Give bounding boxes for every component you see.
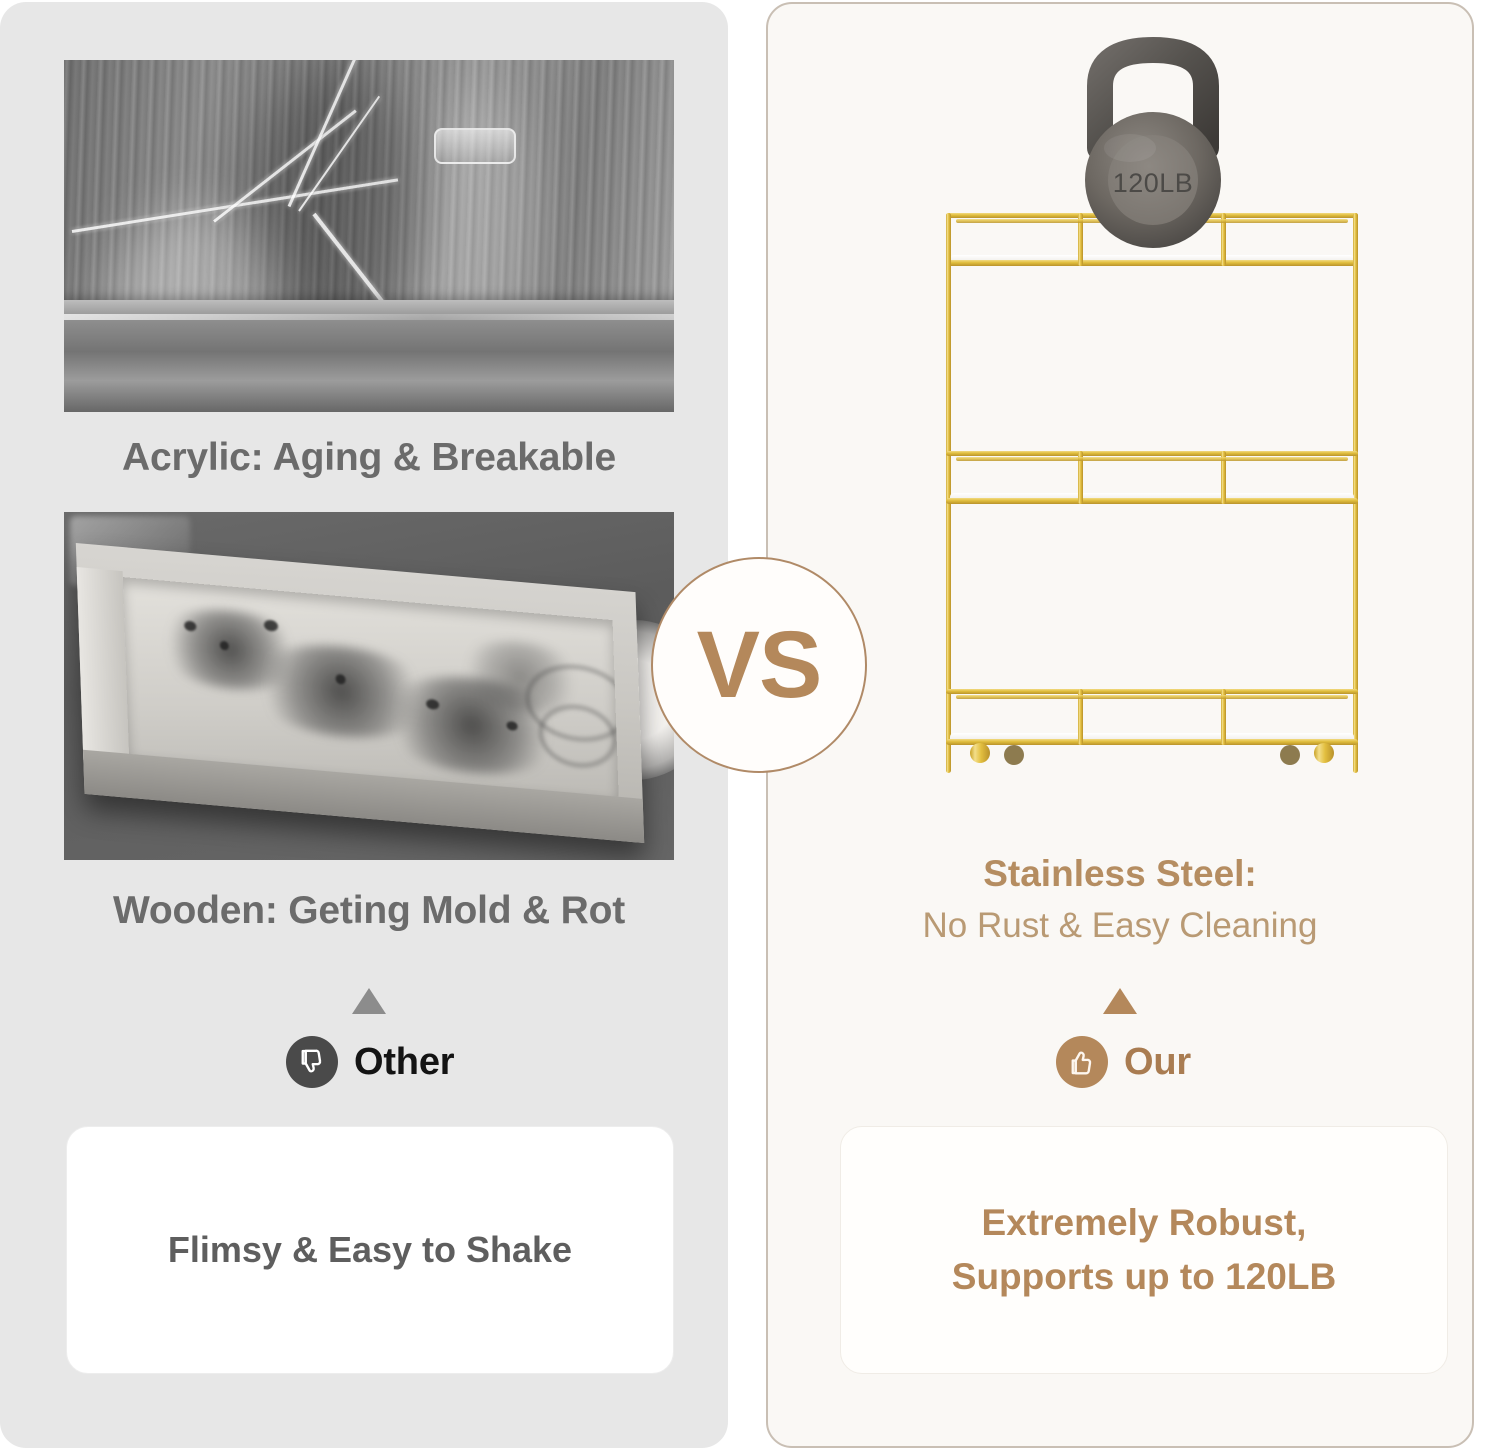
- verdict-label-our: Our: [1124, 1041, 1191, 1084]
- shelf-foot-1: [970, 743, 990, 763]
- thumbs-up-icon: [1056, 1036, 1108, 1088]
- summary-card-our-text: Extremely Robust, Supports up to 120LB: [952, 1196, 1336, 1303]
- vs-label: VS: [697, 618, 822, 713]
- summary-card-other: Flimsy & Easy to Shake: [66, 1126, 674, 1374]
- wooden-tray-left-wall: [77, 567, 130, 764]
- acrylic-shelf-edge: [64, 300, 674, 412]
- pointer-triangle-other: [352, 988, 386, 1014]
- mold-speck-2: [220, 641, 229, 651]
- wooden-tray: [76, 543, 644, 843]
- summary-card-our-line1: Extremely Robust,: [982, 1202, 1307, 1243]
- wooden-photo-caption: Wooden: Geting Mold & Rot: [64, 889, 674, 933]
- shelf-tier-2: [946, 451, 1358, 504]
- summary-card-our-line2-prefix: Supports up to: [952, 1256, 1225, 1297]
- vs-badge: VS: [651, 557, 867, 773]
- acrylic-cracked-photo: [64, 60, 674, 412]
- acrylic-photo-caption: Acrylic: Aging & Breakable: [64, 436, 674, 480]
- verdict-label-other: Other: [354, 1041, 454, 1084]
- product-material-heading: Stainless Steel:: [766, 853, 1474, 895]
- summary-card-our: Extremely Robust, Supports up to 120LB: [840, 1126, 1448, 1374]
- pointer-triangle-our: [1103, 988, 1137, 1014]
- product-material-subheading: No Rust & Easy Cleaning: [766, 906, 1474, 946]
- summary-card-our-line2-value: 120LB: [1225, 1256, 1336, 1297]
- shelf-foot-4: [1314, 743, 1334, 763]
- shelf-foot-2: [1004, 745, 1024, 765]
- verdict-row-our: Our: [1056, 1036, 1191, 1088]
- summary-card-other-text: Flimsy & Easy to Shake: [168, 1229, 572, 1271]
- kettlebell-icon: 120LB: [1058, 28, 1248, 248]
- wooden-moldy-tray-photo: [64, 512, 674, 860]
- gold-wire-spice-rack: [932, 205, 1372, 775]
- shelf-tier-3: [946, 689, 1358, 745]
- thumbs-down-icon: [286, 1036, 338, 1088]
- kettlebell-weight-label: 120LB: [1058, 168, 1248, 199]
- shelf-foot-3: [1280, 745, 1300, 765]
- mold-speck-4: [335, 674, 345, 685]
- verdict-row-other: Other: [286, 1036, 454, 1088]
- acrylic-bubble-defect: [434, 128, 516, 164]
